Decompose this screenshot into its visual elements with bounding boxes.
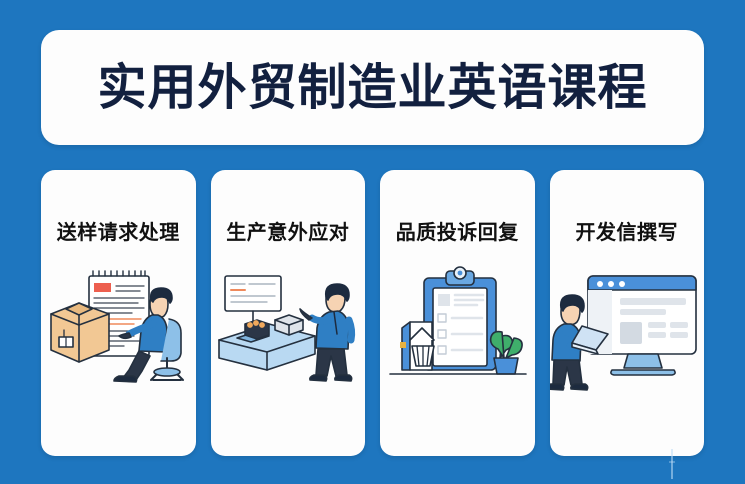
card-title: 生产意外应对	[226, 216, 349, 245]
title-card: 实用外贸制造业英语课程	[41, 30, 704, 145]
card-title: 品质投诉回复	[396, 216, 519, 245]
clipboard-checklist-shop-plant-icon	[380, 262, 535, 392]
cursor-artifact	[671, 449, 673, 479]
page-title: 实用外贸制造业英语课程	[97, 63, 647, 112]
card-title: 开发信撰写	[576, 216, 679, 245]
monitor-browser-person-laptop-icon	[550, 262, 705, 392]
sample-request-box-notepad-person-icon	[41, 262, 196, 392]
feature-card-row: 送样请求处理	[41, 170, 704, 456]
poster-root: 实用外贸制造业英语课程 送样请求处理	[0, 0, 745, 484]
feature-card-production-incident[interactable]: 生产意外应对	[211, 170, 366, 456]
feature-card-sample-request[interactable]: 送样请求处理	[41, 170, 196, 456]
production-line-whiteboard-person-icon	[211, 262, 366, 392]
feature-card-development-letter[interactable]: 开发信撰写	[550, 170, 705, 456]
feature-card-quality-complaint[interactable]: 品质投诉回复	[380, 170, 535, 456]
card-title: 送样请求处理	[57, 216, 180, 245]
